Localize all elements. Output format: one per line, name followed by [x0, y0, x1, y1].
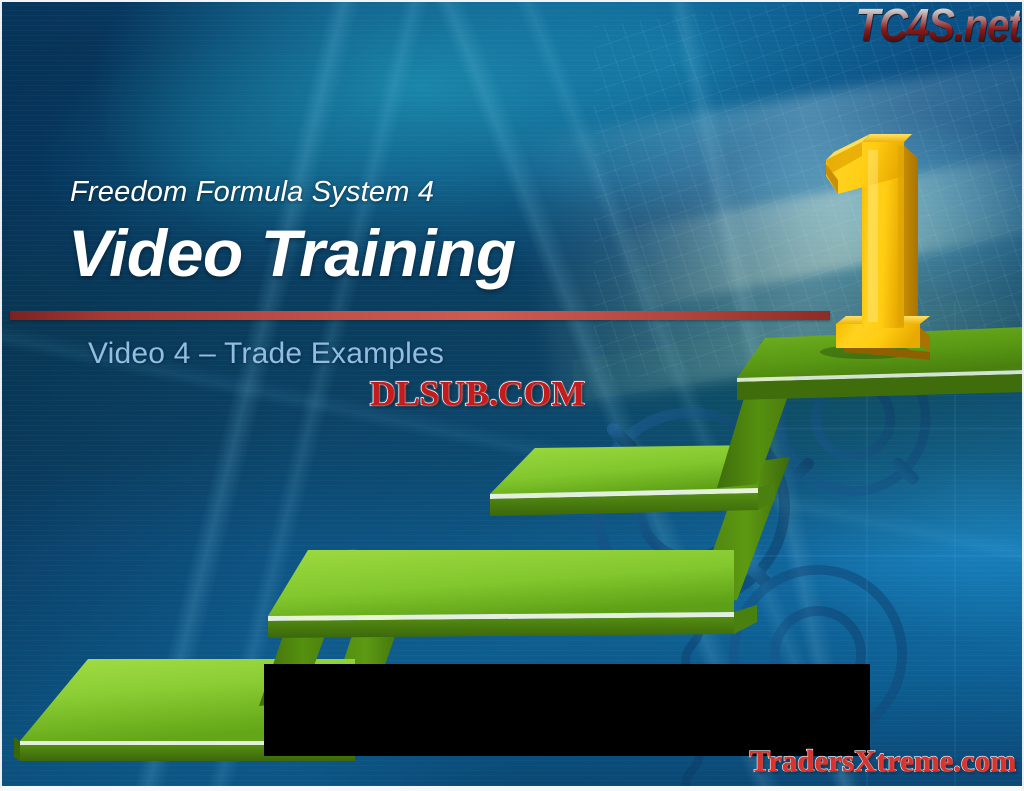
- page-title: Video Training: [68, 215, 516, 291]
- eyebrow-text: Freedom Formula System 4: [70, 176, 434, 209]
- watermark-dlsub: DLSUB.COM: [370, 374, 585, 414]
- watermark-tc4s: TC4S.net: [855, 0, 1020, 52]
- divider-rule: [10, 311, 830, 320]
- subtitle-text: Video 4 – Trade Examples: [88, 337, 444, 371]
- gold-numeral-one-icon: [808, 116, 948, 366]
- slide-canvas: Freedom Formula System 4 Video Training …: [0, 0, 1024, 791]
- watermark-tradersxtreme: TradersXtreme.com: [749, 743, 1016, 779]
